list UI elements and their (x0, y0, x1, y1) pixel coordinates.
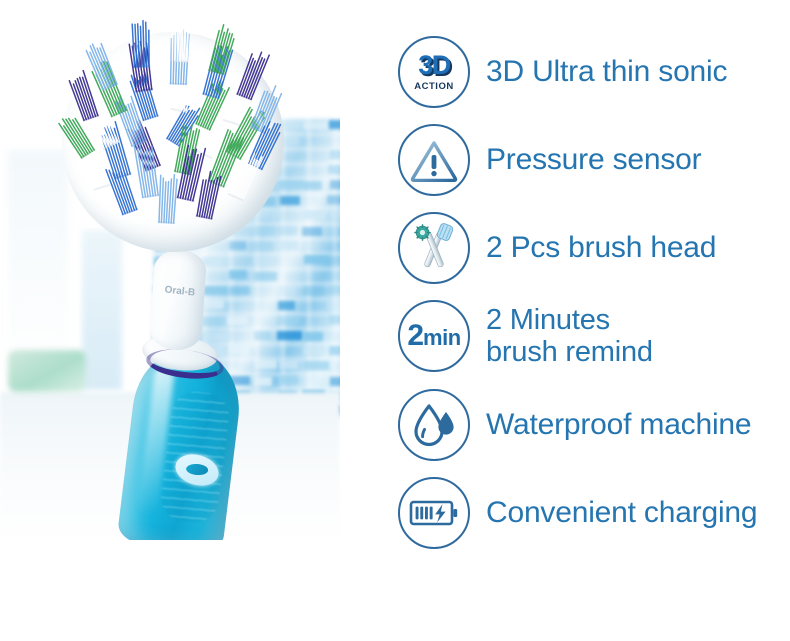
logo-action-text: ACTION (414, 82, 453, 92)
feature-label: Pressure sensor (486, 144, 701, 176)
feature-label: 2 Minutes brush remind (486, 304, 653, 369)
warning-triangle-glyph (410, 138, 458, 182)
feature-label-line1: 2 Minutes (486, 304, 610, 336)
feature-row-charging: Convenient charging (398, 475, 757, 551)
logo-3d-text: 3D (418, 52, 450, 79)
two-minute-timer-icon: 2 min (398, 300, 470, 372)
crossed-brush-heads-icon (398, 212, 470, 284)
crossed-brushes-glyph (408, 222, 460, 274)
feature-list: 3D ACTION 3D Ultra thin sonic (398, 30, 790, 590)
battery-charging-icon (398, 477, 470, 549)
feature-label: 3D Ultra thin sonic (486, 56, 727, 88)
timer-number: 2 (407, 319, 423, 353)
feature-row-pressure-sensor: Pressure sensor (398, 122, 701, 198)
product-photo: Oral-B (0, 0, 340, 540)
droplet-glyph (411, 401, 457, 449)
battery-bolt-glyph (409, 497, 459, 529)
feature-row-timer: 2 min 2 Minutes brush remind (398, 298, 653, 374)
feature-row-brush-head: 2 Pcs brush head (398, 210, 716, 286)
feature-label: 2 Pcs brush head (486, 232, 716, 264)
pressure-warning-triangle-icon (398, 124, 470, 196)
feature-label: Convenient charging (486, 497, 757, 529)
feature-row-waterproof: Waterproof machine (398, 387, 751, 463)
bristle-tufts (0, 0, 340, 540)
feature-label: Waterproof machine (486, 409, 751, 441)
feature-label-line2: brush remind (486, 336, 653, 368)
3d-action-logo-icon: 3D ACTION (398, 36, 470, 108)
product-feature-graphic: Oral-B 3D ACTION 3D Ultra thin sonic (0, 0, 790, 641)
water-droplet-icon (398, 389, 470, 461)
timer-unit: min (423, 325, 461, 351)
feature-row-3d-sonic: 3D ACTION 3D Ultra thin sonic (398, 34, 727, 110)
